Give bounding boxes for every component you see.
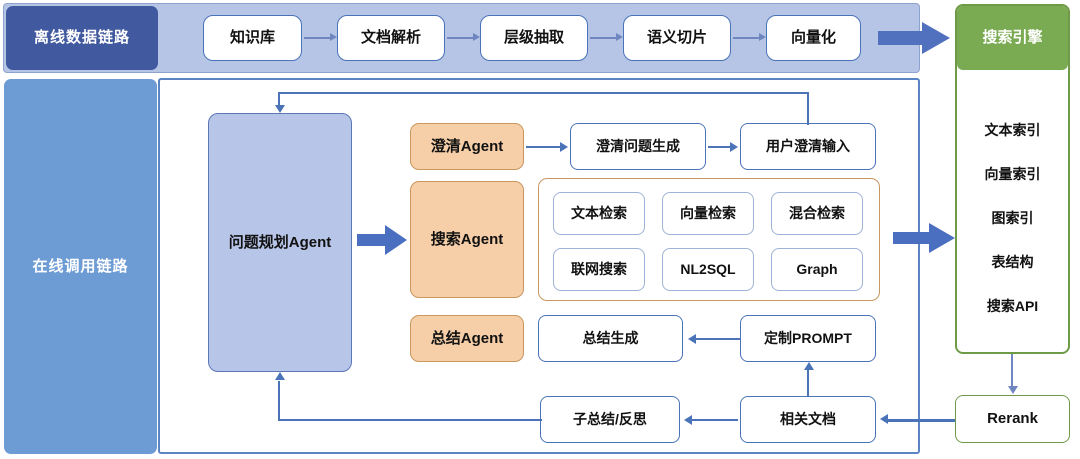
diagram-canvas: 离线数据链路 知识库 文档解析 层级抽取 语义切片 向量化 在线调用链路 问题规… xyxy=(0,0,1080,459)
sub-summary-feedback-vertical xyxy=(278,381,280,421)
summary-agent-node[interactable]: 总结Agent xyxy=(410,315,524,362)
prompt-to-summary-arrowhead xyxy=(688,334,696,344)
feedback-top-vertical-left xyxy=(278,92,280,106)
feedback-top-arrowhead xyxy=(275,105,285,113)
rerank-node[interactable]: Rerank xyxy=(955,395,1070,443)
retrieval-to-engine-block-arrow xyxy=(893,223,955,253)
retrieval-web-search[interactable]: 联网搜索 xyxy=(553,248,645,291)
clarify-agent-node[interactable]: 澄清Agent xyxy=(410,123,524,170)
sub-summary-feedback-arrowhead xyxy=(275,372,285,380)
retrieval-hybrid-search[interactable]: 混合检索 xyxy=(771,192,863,235)
offline-arrowhead-2 xyxy=(473,33,480,41)
docs-to-sub-summary-line xyxy=(692,419,738,421)
offline-connector-1 xyxy=(304,37,330,39)
offline-connector-3 xyxy=(590,37,616,39)
clarify-user-input-node[interactable]: 用户澄清输入 xyxy=(740,123,876,170)
engine-item-table-schema[interactable]: 表结构 xyxy=(957,248,1068,276)
engine-to-rerank-arrowhead xyxy=(1008,386,1018,394)
planner-agent-node[interactable]: 问题规划Agent xyxy=(208,113,352,372)
engine-item-text-index[interactable]: 文本索引 xyxy=(957,116,1068,144)
clarify-agent-to-question-arrowhead xyxy=(560,142,568,152)
offline-step-vectorization[interactable]: 向量化 xyxy=(766,15,861,61)
clarify-agent-to-question-line xyxy=(526,146,560,148)
related-docs-node[interactable]: 相关文档 xyxy=(740,396,876,443)
engine-to-rerank-line xyxy=(1011,354,1013,387)
offline-rail-label: 离线数据链路 xyxy=(6,6,158,70)
retrieval-text-search[interactable]: 文本检索 xyxy=(553,192,645,235)
offline-step-hierarchy-extraction[interactable]: 层级抽取 xyxy=(480,15,588,61)
online-rail-label: 在线调用链路 xyxy=(4,79,157,454)
offline-to-engine-block-arrow xyxy=(878,22,950,54)
retrieval-graph[interactable]: Graph xyxy=(771,248,863,291)
sub-summary-feedback-horizontal xyxy=(278,419,542,421)
engine-item-vector-index[interactable]: 向量索引 xyxy=(957,160,1068,188)
offline-arrowhead-4 xyxy=(759,33,766,41)
offline-step-knowledge-base[interactable]: 知识库 xyxy=(203,15,302,61)
offline-step-semantic-chunking[interactable]: 语义切片 xyxy=(623,15,731,61)
offline-arrowhead-1 xyxy=(330,33,337,41)
feedback-top-vertical-right xyxy=(807,92,809,125)
offline-arrowhead-3 xyxy=(616,33,623,41)
clarify-question-node[interactable]: 澄清问题生成 xyxy=(570,123,706,170)
rerank-to-docs-arrowhead xyxy=(880,414,888,424)
sub-summary-node[interactable]: 子总结/反思 xyxy=(540,396,680,443)
planner-to-search-agent-block-arrow xyxy=(357,225,407,255)
search-agent-node[interactable]: 搜索Agent xyxy=(410,181,524,298)
docs-to-sub-summary-arrowhead xyxy=(684,415,692,425)
docs-to-prompt-arrowhead xyxy=(804,362,814,370)
search-engine-title: 搜索引擎 xyxy=(957,6,1068,70)
engine-item-search-api[interactable]: 搜索API xyxy=(957,292,1068,320)
offline-connector-4 xyxy=(733,37,759,39)
summary-generate-node[interactable]: 总结生成 xyxy=(538,315,683,362)
offline-step-doc-parsing[interactable]: 文档解析 xyxy=(337,15,445,61)
rerank-to-docs-line xyxy=(888,419,956,422)
question-to-user-input-arrowhead xyxy=(730,142,738,152)
question-to-user-input-line xyxy=(708,146,730,148)
docs-to-prompt-line xyxy=(807,370,809,397)
offline-connector-2 xyxy=(447,37,473,39)
engine-item-graph-index[interactable]: 图索引 xyxy=(957,204,1068,232)
custom-prompt-node[interactable]: 定制PROMPT xyxy=(740,315,876,362)
retrieval-nl2sql[interactable]: NL2SQL xyxy=(662,248,754,291)
feedback-top-horizontal xyxy=(278,92,809,94)
retrieval-vector-search[interactable]: 向量检索 xyxy=(662,192,754,235)
prompt-to-summary-line xyxy=(696,338,740,340)
